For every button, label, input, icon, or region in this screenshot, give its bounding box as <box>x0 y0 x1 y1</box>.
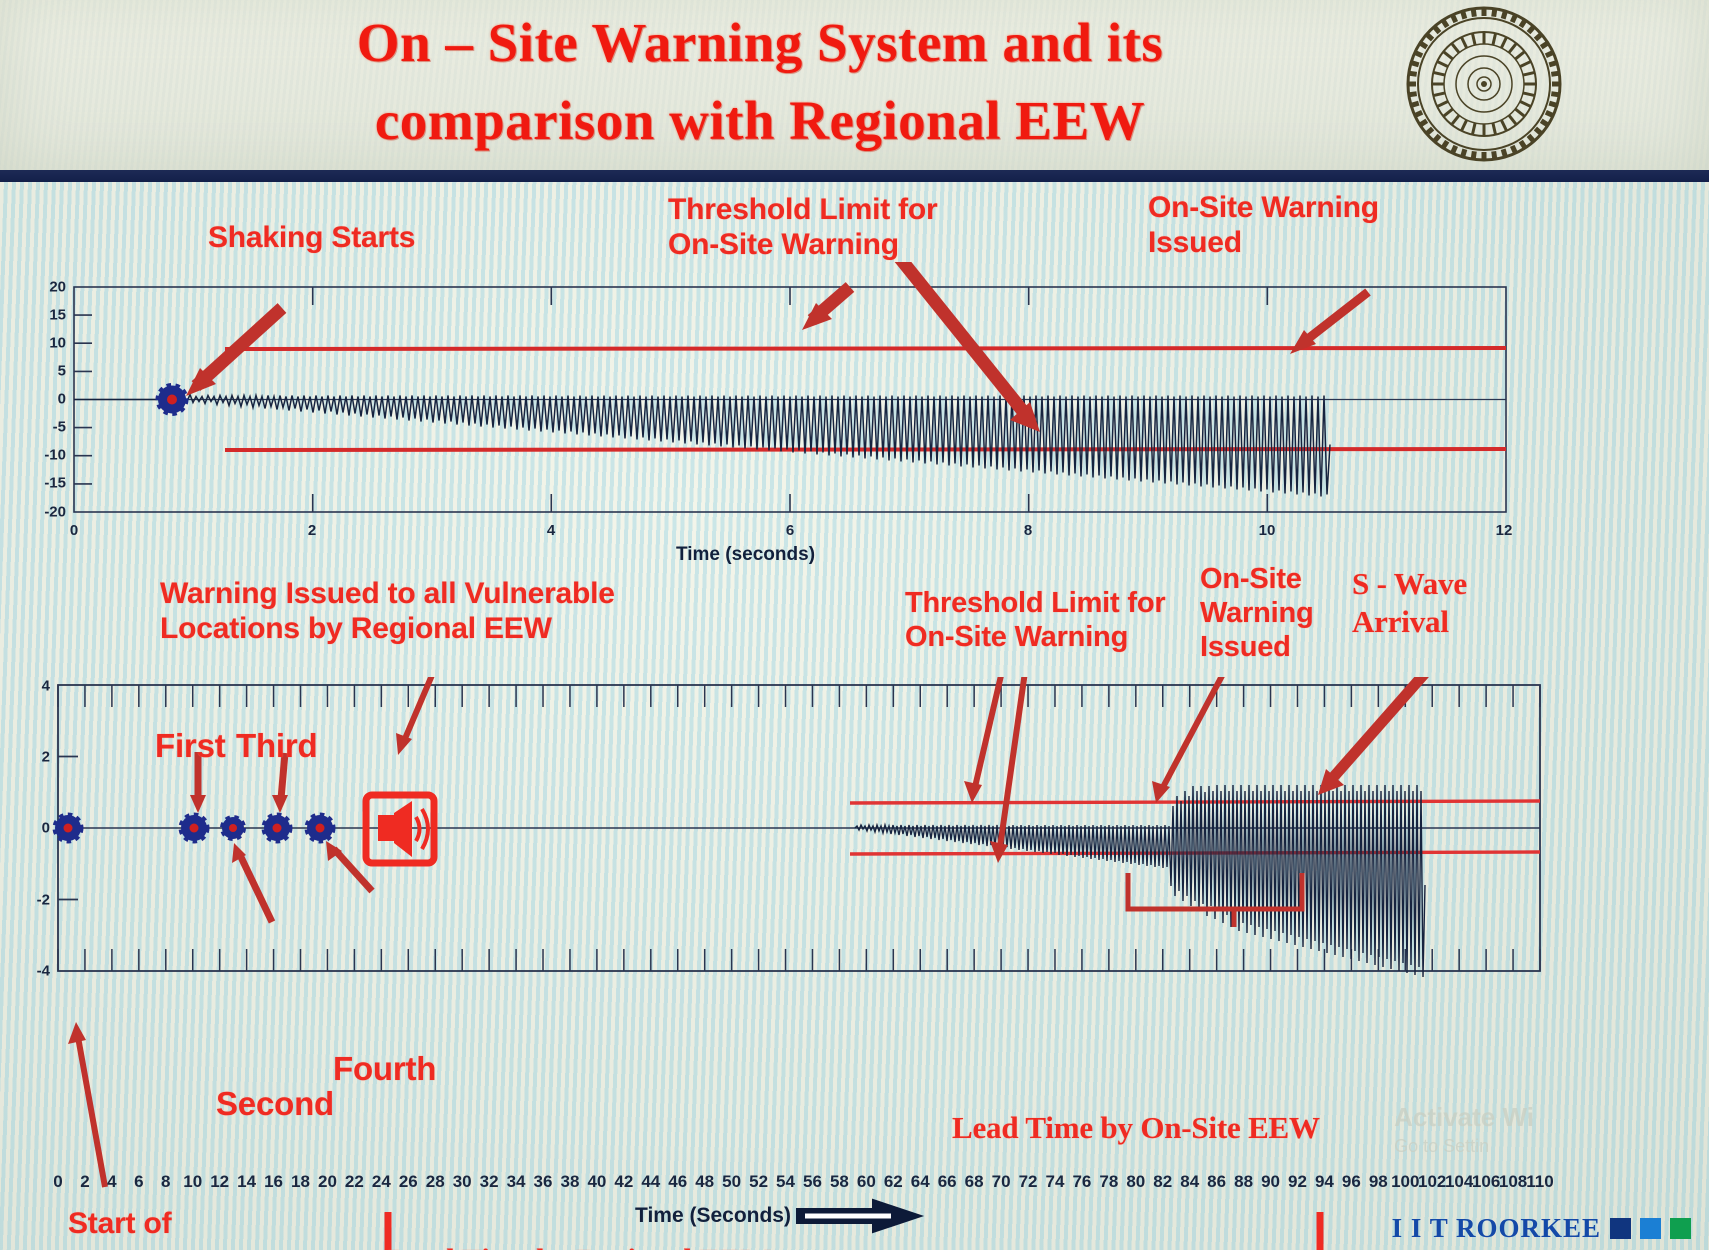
bottom-chart-xtick-86: 86 <box>1207 1172 1226 1192</box>
bottom-chart-xtick-52: 52 <box>749 1172 768 1192</box>
bottom-chart-xtick-84: 84 <box>1180 1172 1199 1192</box>
bottom-chart-xtick-50: 50 <box>722 1172 741 1192</box>
top-chart-ytick-10: 10 <box>32 335 66 352</box>
bottom-chart-xtick-74: 74 <box>1046 1172 1065 1192</box>
top-chart <box>0 262 1709 562</box>
bottom-chart-xtick-30: 30 <box>453 1172 472 1192</box>
page-title: On – Site Warning System and its compari… <box>120 4 1400 160</box>
bottom-chart-xtick-8: 8 <box>161 1172 170 1192</box>
event-marker-fourth <box>307 815 333 841</box>
slide-body: Shaking Starts Threshold Limit for On-Si… <box>0 182 1709 1250</box>
bottom-chart-xtick-10: 10 <box>183 1172 202 1192</box>
annotation-line-2: On-Site Warning <box>905 620 1165 654</box>
bottom-chart-xtick-16: 16 <box>264 1172 283 1192</box>
iit-roorkee-seal-icon <box>1404 4 1564 164</box>
label-second: Second <box>216 1085 334 1124</box>
bottom-chart-xtick-88: 88 <box>1234 1172 1253 1192</box>
bottom-chart-xtick-108: 108 <box>1499 1172 1527 1192</box>
bottom-chart-xtick-58: 58 <box>830 1172 849 1192</box>
bottom-chart-xtick-28: 28 <box>426 1172 445 1192</box>
bottom-chart-ytick--4: -4 <box>14 963 50 980</box>
annotation-on-site-warning-issued-top: On-Site Warning Issued <box>1148 190 1379 261</box>
title-line-2: comparison with Regional EEW <box>120 82 1400 160</box>
top-chart-ytick--20: -20 <box>26 504 66 521</box>
annotation-line-1: On-Site Warning <box>1148 190 1379 225</box>
annotation-line-1: Threshold Limit for <box>668 192 938 227</box>
bottom-chart-xtick-70: 70 <box>992 1172 1011 1192</box>
bottom-chart-xtick-64: 64 <box>911 1172 930 1192</box>
bottom-chart-xtick-26: 26 <box>399 1172 418 1192</box>
arrow-on-site-warning-issued <box>1290 292 1368 354</box>
annotation-line-2: On-Site Warning <box>668 227 938 262</box>
bottom-chart-top-ticks <box>58 685 1540 707</box>
top-chart-xtick-0: 0 <box>70 522 78 539</box>
bottom-chart-xtick-54: 54 <box>776 1172 795 1192</box>
label-line-1: Start of <box>68 1204 264 1243</box>
bottom-chart-trace <box>855 785 1425 977</box>
annotation-line-3: Issued <box>1200 630 1314 664</box>
top-chart-ytick-15: 15 <box>32 307 66 324</box>
bottom-chart-xtick-4: 4 <box>107 1172 116 1192</box>
bottom-chart-ytick-0: 0 <box>18 820 50 837</box>
top-chart-ytick--5: -5 <box>28 419 66 436</box>
annotation-s-wave-arrival: S - Wave Arrival <box>1352 565 1467 641</box>
bottom-chart-xtick-36: 36 <box>534 1172 553 1192</box>
label-first: First <box>155 727 226 766</box>
bottom-chart-xtick-48: 48 <box>695 1172 714 1192</box>
label-fourth: Fourth <box>333 1050 436 1089</box>
slide-root: On – Site Warning System and its compari… <box>0 0 1709 1250</box>
arrow-start-of-earthquake <box>68 1022 105 1187</box>
bottom-chart-xtick-80: 80 <box>1126 1172 1145 1192</box>
arrow-shaking-starts <box>186 308 282 396</box>
brand-square-3 <box>1670 1218 1691 1239</box>
bottom-chart <box>0 677 1709 997</box>
top-chart-ytick-0: 0 <box>32 391 66 408</box>
label-line-2: Earthquake at <box>68 1243 264 1250</box>
bottom-chart-ytick-2: 2 <box>18 749 50 766</box>
bottom-chart-xtick-60: 60 <box>857 1172 876 1192</box>
bottom-chart-xtick-42: 42 <box>614 1172 633 1192</box>
bottom-chart-xtick-32: 32 <box>480 1172 499 1192</box>
arrow-threshold-limit-bottom <box>964 677 1010 803</box>
bottom-chart-xtick-12: 12 <box>210 1172 229 1192</box>
top-chart-xaxis-label: Time (seconds) <box>676 544 815 566</box>
bottom-chart-xtick-56: 56 <box>803 1172 822 1192</box>
event-marker-first <box>181 815 207 841</box>
bottom-chart-xtick-82: 82 <box>1153 1172 1172 1192</box>
annotation-line-1: Threshold Limit for <box>905 586 1165 620</box>
bottom-chart-xtick-18: 18 <box>291 1172 310 1192</box>
bottom-chart-xtick-66: 66 <box>938 1172 957 1192</box>
bottom-chart-xtick-14: 14 <box>237 1172 256 1192</box>
annotation-line-2: Arrival <box>1352 603 1467 641</box>
bottom-chart-ytick-4: 4 <box>18 678 50 695</box>
arrow-s-wave-arrival <box>1318 677 1448 795</box>
bottom-chart-xtick-100: 100 <box>1391 1172 1419 1192</box>
top-chart-xtick-12: 12 <box>1496 522 1513 539</box>
top-chart-xtick-6: 6 <box>786 522 794 539</box>
note-line-1: *Maximum Lead time by On-Site EEW for th… <box>873 1244 1353 1250</box>
top-chart-xtick-4: 4 <box>547 522 555 539</box>
annotation-line-2: Issued <box>1148 225 1379 260</box>
bottom-chart-xtick-38: 38 <box>560 1172 579 1192</box>
bottom-chart-xtick-34: 34 <box>507 1172 526 1192</box>
footer-brand: I I T ROORKEE <box>1392 1213 1691 1244</box>
bottom-chart-xtick-62: 62 <box>884 1172 903 1192</box>
arrow-threshold-limit <box>802 287 850 330</box>
regional-eew-broadcast-icon <box>366 795 434 863</box>
event-marker-third <box>264 815 290 841</box>
top-chart-xtick-8: 8 <box>1024 522 1032 539</box>
bottom-chart-xtick-102: 102 <box>1418 1172 1446 1192</box>
label-lead-time-on-site: Lead Time by On-Site EEW <box>952 1110 1320 1147</box>
annotation-line-1: Warning Issued to all Vulnerable <box>160 576 615 611</box>
bottom-chart-ytick--2: -2 <box>14 892 50 909</box>
bottom-chart-xtick-110: 110 <box>1526 1172 1553 1192</box>
bottom-chart-xtick-104: 104 <box>1445 1172 1473 1192</box>
annotation-line-1: On-Site <box>1200 562 1314 596</box>
bottom-chart-bottom-ticks <box>58 949 1540 971</box>
brand-square-1 <box>1610 1218 1631 1239</box>
bottom-chart-xtick-46: 46 <box>668 1172 687 1192</box>
bottom-chart-xtick-92: 92 <box>1288 1172 1307 1192</box>
bottom-chart-xtick-22: 22 <box>345 1172 364 1192</box>
label-lead-time-regional: Lead Time by Regional EEW <box>388 1242 771 1250</box>
annotation-line-2: Locations by Regional EEW <box>160 611 615 646</box>
institute-name: I I T ROORKEE <box>1392 1213 1601 1244</box>
bottom-chart-xtick-90: 90 <box>1261 1172 1280 1192</box>
bottom-chart-xtick-72: 72 <box>1019 1172 1038 1192</box>
annotation-line-2: Warning <box>1200 596 1314 630</box>
bottom-chart-xtick-96: 96 <box>1342 1172 1361 1192</box>
arrow-on-site-warning-issued-bottom <box>1152 677 1232 803</box>
annotation-threshold-limit-top: Threshold Limit for On-Site Warning <box>668 192 938 263</box>
shaking-start-marker <box>158 386 186 414</box>
annotation-line-1: S - Wave <box>1352 565 1467 603</box>
bottom-chart-xtick-76: 76 <box>1072 1172 1091 1192</box>
top-chart-trace <box>74 395 1330 497</box>
brand-square-2 <box>1640 1218 1661 1239</box>
bottom-chart-xtick-24: 24 <box>372 1172 391 1192</box>
event-marker-second <box>222 817 244 839</box>
arrow-second <box>232 843 272 922</box>
label-third: Third <box>236 727 317 766</box>
bottom-chart-xaxis-label: Time (Seconds) <box>635 1204 791 1228</box>
annotation-shaking-starts: Shaking Starts <box>208 220 415 255</box>
bottom-chart-xtick-106: 106 <box>1472 1172 1500 1192</box>
top-chart-ytick--15: -15 <box>26 475 66 492</box>
title-underline <box>0 170 1709 182</box>
bottom-chart-xtick-68: 68 <box>965 1172 984 1192</box>
annotation-on-site-warning-issued-bottom: On-Site Warning Issued <box>1200 562 1314 665</box>
bottom-chart-xtick-40: 40 <box>587 1172 606 1192</box>
top-chart-ytick-20: 20 <box>32 279 66 296</box>
bottom-chart-xtick-0: 0 <box>53 1172 62 1192</box>
bottom-chart-xtick-6: 6 <box>134 1172 143 1192</box>
bottom-chart-xtick-2: 2 <box>80 1172 89 1192</box>
bottom-chart-xtick-20: 20 <box>318 1172 337 1192</box>
top-chart-ytick-5: 5 <box>32 363 66 380</box>
top-chart-xtick-10: 10 <box>1259 522 1276 539</box>
bottom-chart-xtick-98: 98 <box>1369 1172 1388 1192</box>
label-start-of-earthquake: Start of Earthquake at Epicenter <box>68 1204 264 1250</box>
top-chart-xtick-2: 2 <box>308 522 316 539</box>
bottom-chart-xtick-78: 78 <box>1099 1172 1118 1192</box>
top-chart-ytick--10: -10 <box>26 447 66 464</box>
event-marker-epicenter <box>55 815 81 841</box>
annotation-threshold-limit-bottom: Threshold Limit for On-Site Warning <box>905 586 1165 654</box>
note-max-lead-time: *Maximum Lead time by On-Site EEW for th… <box>873 1244 1353 1250</box>
bottom-chart-xtick-44: 44 <box>641 1172 660 1192</box>
title-line-1: On – Site Warning System and its <box>120 4 1400 82</box>
time-direction-arrow-icon <box>795 1198 925 1234</box>
annotation-warning-issued-regional: Warning Issued to all Vulnerable Locatio… <box>160 576 615 647</box>
bottom-chart-xtick-94: 94 <box>1315 1172 1334 1192</box>
